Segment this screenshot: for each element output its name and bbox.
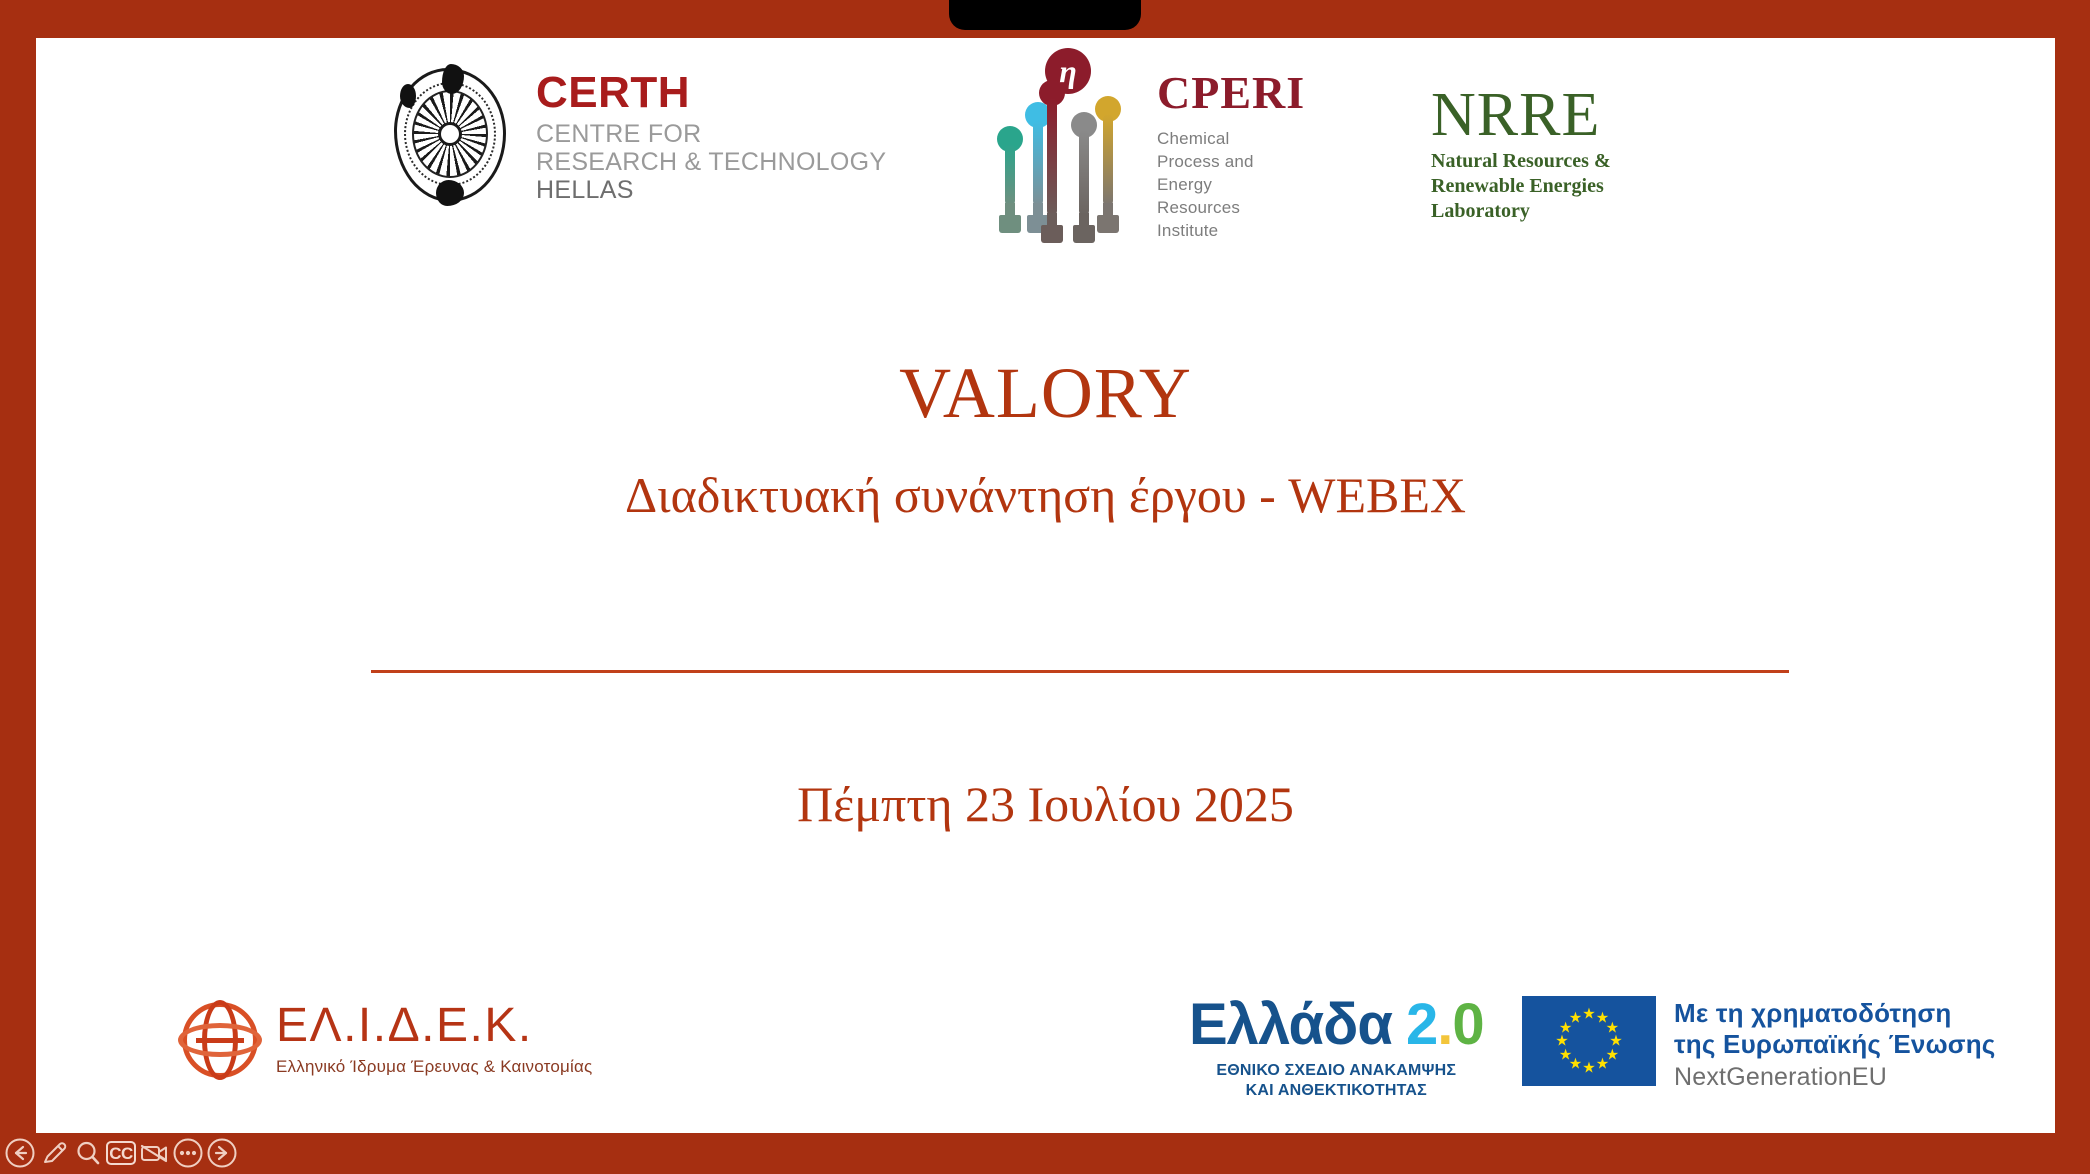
closed-captions-icon[interactable]: CC	[106, 1141, 136, 1165]
elidek-wordmark: ΕΛ.Ι.Δ.Ε.Κ. Ελληνικό Ίδρυμα Έρευνας & Κα…	[276, 1002, 592, 1079]
elidek-logo: ΕΛ.Ι.Δ.Ε.Κ. Ελληνικό Ίδρυμα Έρευνας & Κα…	[178, 998, 592, 1082]
eu-wordmark: Με τη χρηματοδότηση της Ευρωπαϊκής Ένωση…	[1674, 996, 1996, 1092]
elidek-emblem-icon	[178, 998, 262, 1082]
cperi-wordmark: CPERI Chemical Process and Energy Resour…	[1157, 48, 1305, 243]
pen-annotate-icon[interactable]	[38, 1137, 70, 1169]
elidek-name: ΕΛ.Ι.Δ.Ε.Κ.	[276, 1002, 592, 1050]
ellada-tagline: ΕΘΝΙΚΟ ΣΧΕΔΙΟ ΑΝΑΚΑΜΨΗΣ ΚΑΙ ΑΝΘΕΚΤΙΚΟΤΗΤ…	[1189, 1061, 1484, 1102]
nrre-tagline: Natural Resources & Renewable Energies L…	[1431, 149, 1611, 224]
presentation-toolbar[interactable]: CC	[4, 1136, 238, 1170]
eu-flag-icon: ★★★★★★★★★★★★	[1522, 996, 1656, 1086]
camera-off-icon[interactable]	[138, 1137, 170, 1169]
certh-emblem-icon	[384, 62, 516, 210]
certh-name: CERTH	[536, 70, 886, 116]
search-zoom-icon[interactable]	[72, 1137, 104, 1169]
ellada-2-0-logo: Ελλάδα2.0 ΕΘΝΙΚΟ ΣΧΕΔΙΟ ΑΝΑΚΑΜΨΗΣ ΚΑΙ ΑΝ…	[1189, 996, 1484, 1102]
certh-tagline: CENTRE FOR RESEARCH & TECHNOLOGY HELLAS	[536, 120, 886, 204]
ellada-tagline-line2: ΚΑΙ ΑΝΘΕΚΤΙΚΟΤΗΤΑΣ	[1189, 1081, 1484, 1101]
ellada-tagline-line1: ΕΘΝΙΚΟ ΣΧΕΔΙΟ ΑΝΑΚΑΜΨΗΣ	[1189, 1061, 1484, 1081]
forward-arrow-icon[interactable]	[206, 1137, 238, 1169]
certh-logo: CERTH CENTRE FOR RESEARCH & TECHNOLOGY H…	[384, 62, 886, 210]
certh-tagline-line3: HELLAS	[536, 176, 886, 204]
certh-wordmark: CERTH CENTRE FOR RESEARCH & TECHNOLOGY H…	[536, 62, 886, 204]
elidek-tagline: Ελληνικό Ίδρυμα Έρευνας & Καινοτομίας	[276, 1057, 592, 1077]
ellada-two: 2	[1406, 992, 1437, 1057]
nrre-tagline-line3: Laboratory	[1431, 199, 1611, 224]
nrre-name: NRRE	[1431, 86, 1611, 145]
certh-tagline-line1: CENTRE FOR	[536, 120, 886, 148]
cperi-tagline-line1: Chemical	[1157, 128, 1305, 151]
cperi-logo: η	[991, 48, 1305, 243]
cperi-name: CPERI	[1157, 70, 1305, 116]
nrre-tagline-line2: Renewable Energies	[1431, 174, 1611, 199]
cperi-emblem-icon: η	[991, 48, 1141, 233]
presentation-slide: CERTH CENTRE FOR RESEARCH & TECHNOLOGY H…	[36, 38, 2055, 1133]
back-arrow-icon[interactable]	[4, 1137, 36, 1169]
eu-nextgen-label: NextGenerationEU	[1674, 1063, 1996, 1092]
meeting-date: Πέμπτη 23 Ιουλίου 2025	[36, 776, 2055, 834]
ellada-dot: .	[1437, 992, 1452, 1057]
eu-star-icon: ★	[1582, 1061, 1595, 1076]
eu-funding-logo: ★★★★★★★★★★★★ Με τη χρηματοδότηση της Ευρ…	[1522, 996, 1996, 1092]
cperi-tagline-line4: Resources	[1157, 197, 1305, 220]
page-subtitle: Διαδικτυακή συνάντηση έργου - WEBEX	[36, 467, 2055, 525]
ellada-wordmark: Ελλάδα2.0	[1189, 996, 1484, 1054]
ellada-zero: 0	[1452, 992, 1483, 1057]
header-logo-row: CERTH CENTRE FOR RESEARCH & TECHNOLOGY H…	[36, 38, 2055, 248]
eu-star-icon: ★	[1596, 1057, 1609, 1072]
title-block: VALORY Διαδικτυακή συνάντηση έργου - WEB…	[36, 354, 2055, 525]
page-title: VALORY	[36, 354, 2055, 433]
eu-funding-line2: της Ευρωπαϊκής Ένωσης	[1674, 1029, 1996, 1060]
nrre-logo: NRRE Natural Resources & Renewable Energ…	[1431, 86, 1611, 224]
certh-tagline-line2: RESEARCH & TECHNOLOGY	[536, 148, 886, 176]
eu-star-icon: ★	[1569, 1010, 1582, 1025]
eu-star-icon: ★	[1582, 1007, 1595, 1022]
cperi-tagline-line2: Process and	[1157, 151, 1305, 174]
device-notch	[949, 0, 1141, 30]
cperi-tagline-line3: Energy	[1157, 174, 1305, 197]
horizontal-divider	[371, 670, 1789, 673]
ellada-word: Ελλάδα	[1189, 992, 1392, 1057]
more-options-icon[interactable]	[172, 1137, 204, 1169]
eu-funding-line1: Με τη χρηματοδότηση	[1674, 998, 1996, 1029]
cperi-tagline: Chemical Process and Energy Resources In…	[1157, 128, 1305, 243]
nrre-tagline-line1: Natural Resources &	[1431, 149, 1611, 174]
cperi-tagline-line5: Institute	[1157, 220, 1305, 243]
